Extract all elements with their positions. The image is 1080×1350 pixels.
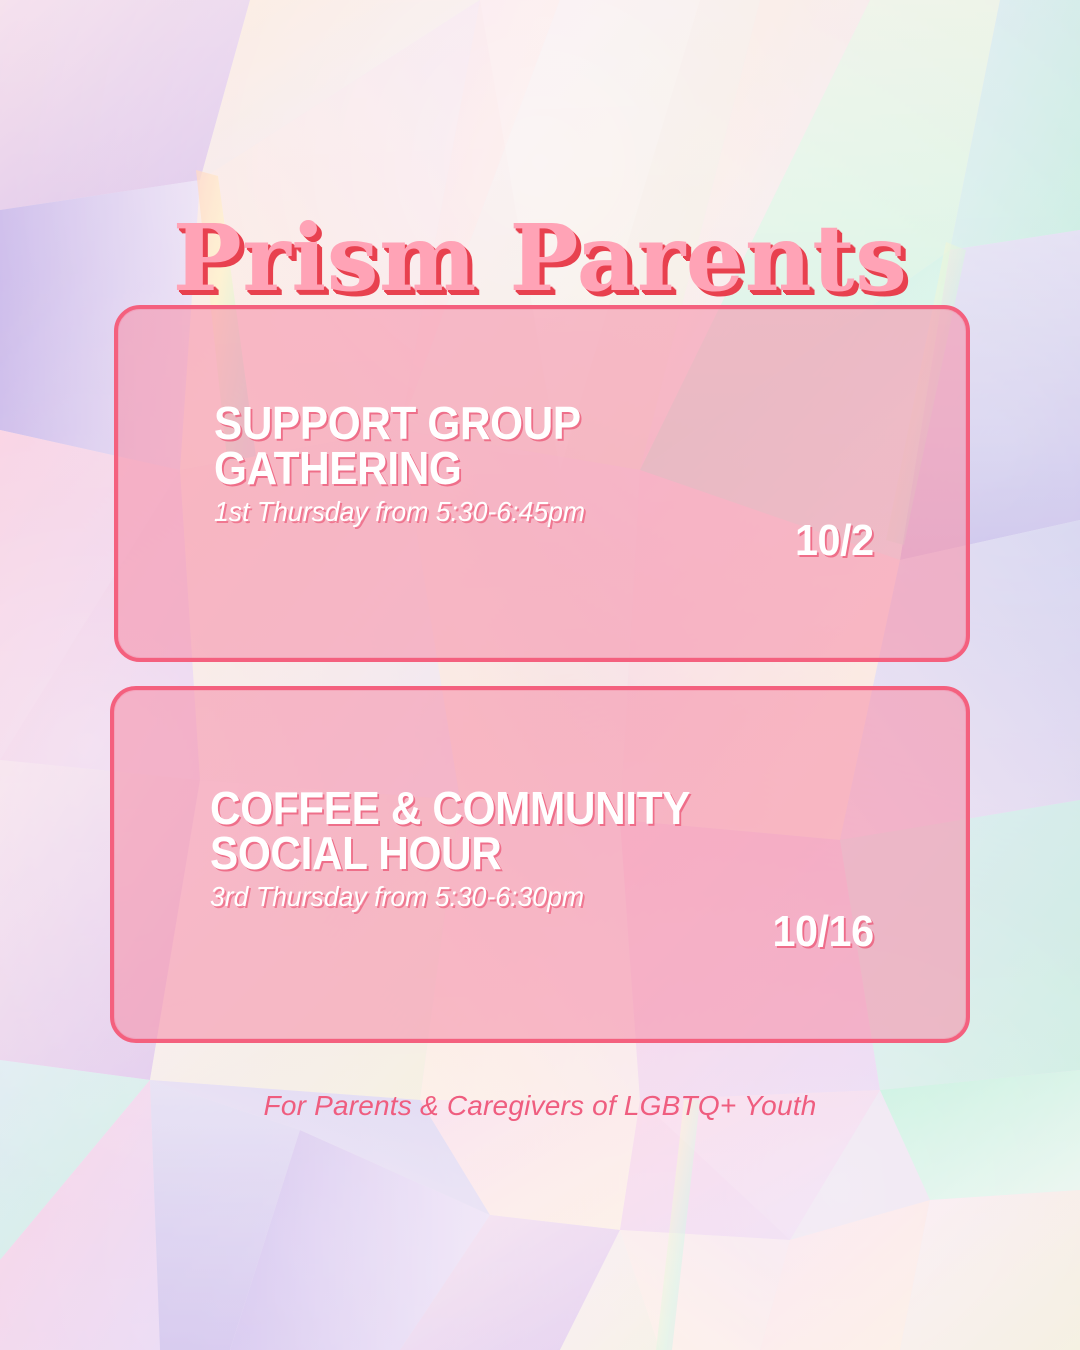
event-card-support-group[interactable]: SUPPORT GROUP GATHERING 1st Thursday fro… bbox=[114, 305, 970, 662]
event-headline: SUPPORT GROUP GATHERING bbox=[214, 401, 887, 491]
event-card-coffee-community[interactable]: COFFEE & COMMUNITY SOCIAL HOUR 3rd Thurs… bbox=[110, 686, 970, 1043]
event-date-badge: 10/16 bbox=[773, 910, 874, 954]
page-title: Prism Parents bbox=[0, 212, 1080, 304]
holographic-background bbox=[0, 0, 1080, 1350]
event-date-badge: 10/2 bbox=[795, 519, 874, 563]
poster-canvas: Prism Parents SUPPORT GROUP GATHERING 1s… bbox=[0, 0, 1080, 1350]
event-card-body: SUPPORT GROUP GATHERING 1st Thursday fro… bbox=[214, 401, 946, 527]
event-headline: COFFEE & COMMUNITY SOCIAL HOUR bbox=[210, 786, 887, 876]
audience-tagline: For Parents & Caregivers of LGBTQ+ Youth bbox=[0, 1090, 1080, 1122]
event-card-body: COFFEE & COMMUNITY SOCIAL HOUR 3rd Thurs… bbox=[210, 786, 946, 912]
